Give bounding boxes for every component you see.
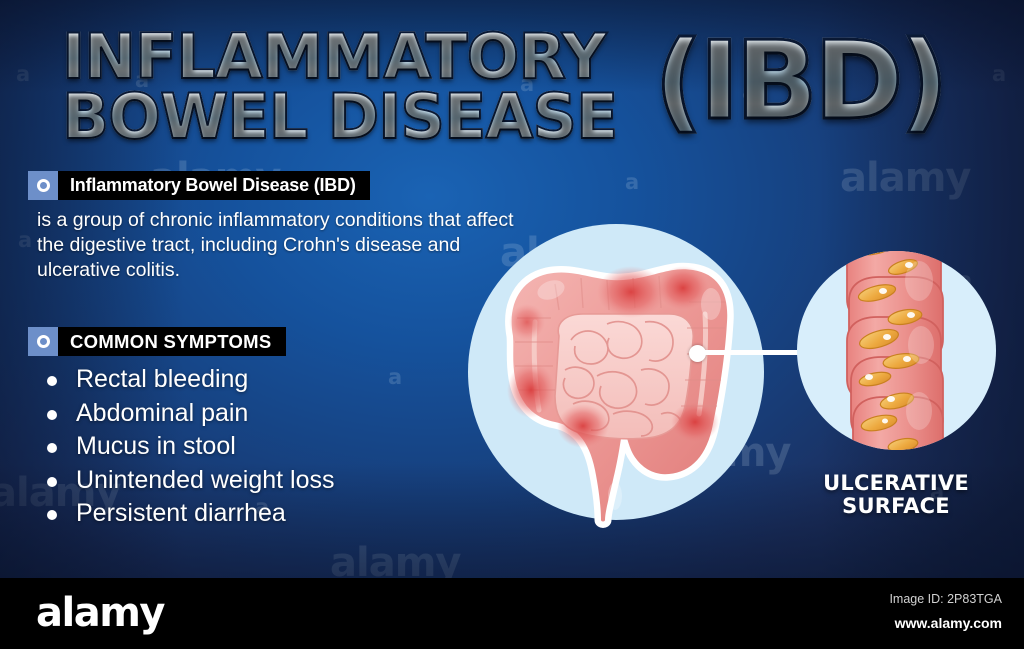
list-item-label: Rectal bleeding: [76, 365, 248, 393]
list-item: Abdominal pain: [40, 397, 460, 431]
watermark-small: a: [16, 62, 29, 86]
callout-leader-line: [703, 350, 811, 355]
inset-caption: ULCERATIVE SURFACE: [796, 472, 996, 518]
watermark-small: a: [992, 62, 1005, 86]
large-intestine-illustration: [455, 218, 775, 538]
watermark-small: a: [625, 170, 638, 194]
list-item: Mucus in stool: [40, 430, 460, 464]
list-item: Persistent diarrhea: [40, 497, 460, 531]
list-item: Unintended weight loss: [40, 464, 460, 498]
title-line-1: INFLAMMATORY: [62, 26, 606, 88]
bullet-icon: [47, 477, 57, 487]
ulcerated-bowel-segment-closeup: [797, 251, 996, 450]
watermark-big: alamy: [840, 155, 970, 201]
title-line-2: BOWEL DISEASE: [62, 86, 617, 148]
bullet-icon: [47, 443, 57, 453]
list-item: Rectal bleeding: [40, 363, 460, 397]
list-item-label: Mucus in stool: [76, 432, 236, 460]
ulcerative-surface-inset: [797, 251, 996, 450]
definition-heading: Inflammatory Bowel Disease (IBD): [28, 171, 370, 200]
bullet-icon: [47, 410, 57, 420]
list-item-label: Abdominal pain: [76, 399, 248, 427]
footer-bar: alamy Image ID: 2P83TGA www.alamy.com: [0, 578, 1024, 649]
definition-body: is a group of chronic inflammatory condi…: [37, 208, 517, 283]
bullet-icon: [47, 510, 57, 520]
inset-caption-line-2: SURFACE: [796, 495, 996, 518]
alamy-logo: alamy: [36, 591, 164, 635]
watermark-small: a: [18, 228, 31, 252]
list-item-label: Persistent diarrhea: [76, 499, 286, 527]
infographic-canvas: alamy alamy alamy alamy alamy alamy a a …: [0, 0, 1024, 649]
symptoms-heading-label: COMMON SYMPTOMS: [58, 327, 286, 356]
definition-heading-label: Inflammatory Bowel Disease (IBD): [58, 171, 370, 200]
image-id-label: Image ID: 2P83TGA: [889, 592, 1002, 606]
symptoms-heading: COMMON SYMPTOMS: [28, 327, 286, 356]
list-item-label: Unintended weight loss: [76, 466, 335, 494]
ring-icon: [28, 327, 58, 356]
page-title: INFLAMMATORY BOWEL DISEASE (IBD): [62, 14, 982, 144]
watermark-big: alamy: [330, 540, 460, 578]
symptoms-list: Rectal bleeding Abdominal pain Mucus in …: [40, 363, 460, 531]
title-abbreviation: (IBD): [654, 28, 945, 136]
alamy-url[interactable]: www.alamy.com: [895, 615, 1002, 631]
ring-icon: [28, 171, 58, 200]
bullet-icon: [47, 376, 57, 386]
inset-caption-line-1: ULCERATIVE: [796, 472, 996, 495]
